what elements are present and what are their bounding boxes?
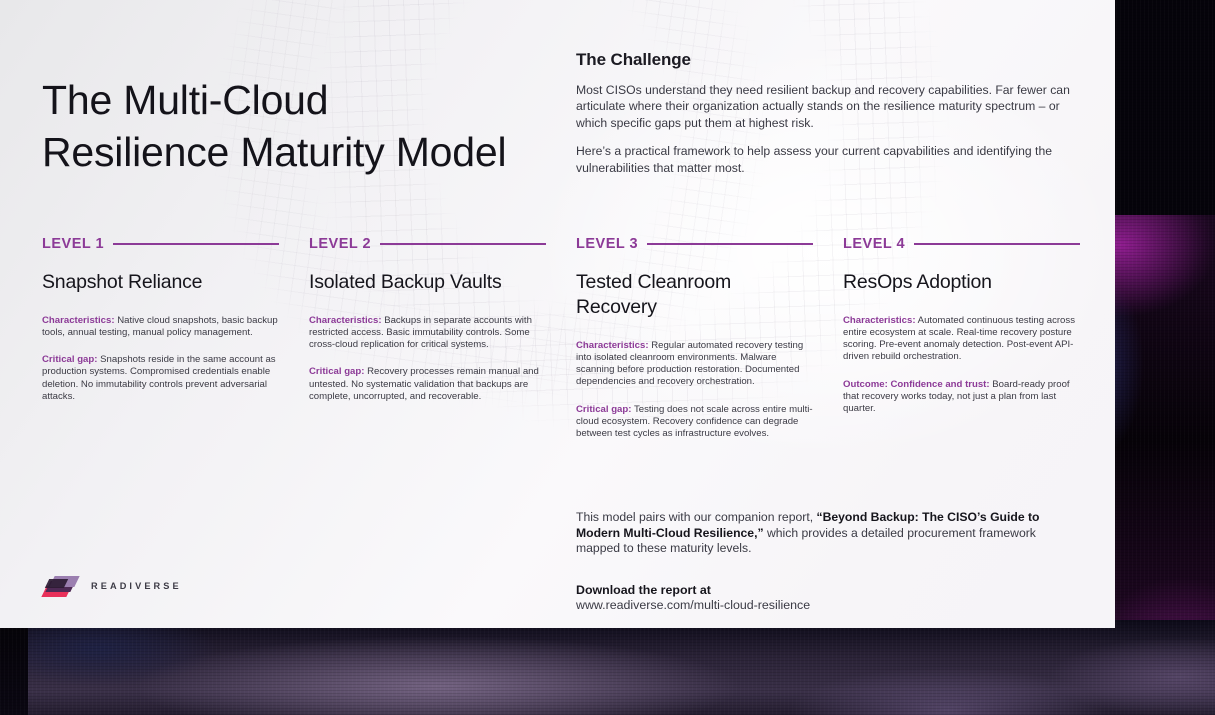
level-3-characteristics: Characteristics: Regular automated recov… [576,340,813,389]
level-2-rule [380,243,546,245]
level-3-name: Tested Cleanroom Recovery [576,270,813,320]
level-4-rule [914,243,1080,245]
level-1-characteristics: Characteristics: Native cloud snapshots,… [42,315,279,340]
level-3-header: LEVEL 3 [576,236,813,252]
level-2-header: LEVEL 2 [309,236,546,252]
cta-intro: This model pairs with our companion repo… [576,510,1081,557]
challenge-heading: The Challenge [576,50,1081,70]
level-1-rule [113,243,279,245]
level-4-outcome-tag: Outcome: Confidence and trust: [843,379,990,390]
challenge-paragraph-1: Most CISOs understand they need resilien… [576,82,1081,131]
level-2-label: LEVEL 2 [309,236,371,252]
page-title: The Multi-Cloud Resilience Maturity Mode… [42,74,562,178]
level-column-3: LEVEL 3 Tested Cleanroom Recovery Charac… [576,236,813,441]
cta-intro-part-1: This model pairs with our companion repo… [576,510,816,524]
level-1-critical-gap: Critical gap: Snapshots reside in the sa… [42,354,279,403]
level-4-outcome: Outcome: Confidence and trust: Board-rea… [843,379,1080,416]
level-4-header: LEVEL 4 [843,236,1080,252]
level-2-body: Characteristics: Backups in separate acc… [309,315,546,404]
level-4-label: LEVEL 4 [843,236,905,252]
level-3-rule [647,243,813,245]
level-3-label: LEVEL 3 [576,236,638,252]
content-card: The Multi-Cloud Resilience Maturity Mode… [0,0,1115,628]
cta-section: This model pairs with our companion repo… [576,510,1081,612]
level-column-2: LEVEL 2 Isolated Backup Vaults Character… [309,236,546,403]
level-3-critical-gap: Critical gap: Testing does not scale acr… [576,404,813,441]
readiverse-wordmark: READIVERSE [91,581,182,591]
level-2-characteristics-tag: Characteristics: [309,315,382,326]
level-3-body: Characteristics: Regular automated recov… [576,340,813,441]
level-column-4: LEVEL 4 ResOps Adoption Characteristics:… [843,236,1080,416]
readiverse-stacked-layers-icon [44,574,78,598]
level-1-header: LEVEL 1 [42,236,279,252]
level-1-body: Characteristics: Native cloud snapshots,… [42,315,279,404]
level-3-characteristics-tag: Characteristics: [576,340,649,351]
level-column-1: LEVEL 1 Snapshot Reliance Characteristic… [42,236,279,403]
level-4-body: Characteristics: Automated continuous te… [843,315,1080,416]
level-4-name: ResOps Adoption [843,270,1080,295]
level-3-critical-gap-tag: Critical gap: [576,404,631,415]
level-1-label: LEVEL 1 [42,236,104,252]
level-1-name: Snapshot Reliance [42,270,279,295]
level-1-critical-gap-tag: Critical gap: [42,354,97,365]
level-2-name: Isolated Backup Vaults [309,270,546,295]
cta-download-heading: Download the report at [576,583,1081,597]
level-2-critical-gap-tag: Critical gap: [309,366,364,377]
level-2-critical-gap: Critical gap: Recovery processes remain … [309,366,546,403]
cta-download-url[interactable]: www.readiverse.com/multi-cloud-resilienc… [576,598,1081,612]
level-2-characteristics: Characteristics: Backups in separate acc… [309,315,546,352]
level-4-characteristics: Characteristics: Automated continuous te… [843,315,1080,364]
level-1-characteristics-tag: Characteristics: [42,315,115,326]
level-4-characteristics-tag: Characteristics: [843,315,916,326]
readiverse-logo[interactable]: READIVERSE [44,574,182,598]
challenge-paragraph-2: Here’s a practical framework to help ass… [576,143,1081,176]
challenge-section: The Challenge Most CISOs understand they… [576,50,1081,176]
